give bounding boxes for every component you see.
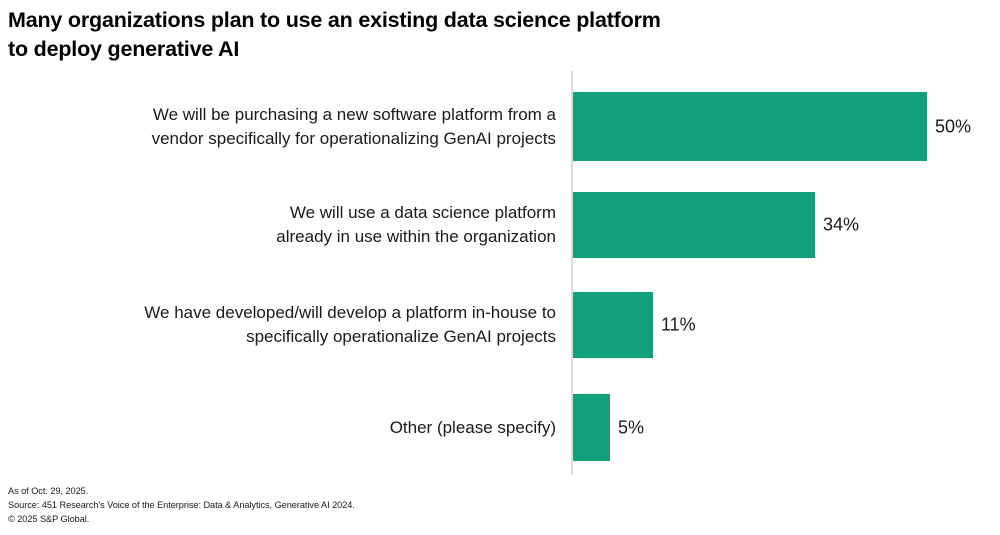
bar-segment[interactable] (573, 394, 610, 461)
category-label: We have developed/will develop a platfor… (0, 301, 556, 349)
bar-row: We will use a data science platform alre… (0, 192, 1000, 258)
footnote-block: As of Oct. 29, 2025. Source: 451 Researc… (8, 485, 355, 527)
bar-value-label: 5% (618, 417, 644, 438)
chart-plot-area: We will be purchasing a new software pla… (0, 68, 1000, 478)
bar-row: We will be purchasing a new software pla… (0, 92, 1000, 161)
bar-value-label: 34% (823, 215, 859, 236)
bar-row: Other (please specify) 5% (0, 394, 1000, 461)
bar-segment[interactable] (573, 292, 653, 358)
category-label: We will use a data science platform alre… (0, 201, 556, 249)
footnote-copyright: © 2025 S&P Global. (8, 513, 355, 527)
footnote-as-of: As of Oct. 29, 2025. (8, 485, 355, 499)
category-label: We will be purchasing a new software pla… (0, 102, 556, 150)
bar-segment[interactable] (573, 92, 927, 161)
bar-value-label: 50% (935, 116, 971, 137)
page-title: Many organizations plan to use an existi… (8, 6, 868, 63)
bar-segment[interactable] (573, 192, 815, 258)
bar-value-label: 11% (661, 315, 696, 336)
bar-row: We have developed/will develop a platfor… (0, 292, 1000, 358)
category-label: Other (please specify) (0, 415, 556, 439)
footnote-source: Source: 451 Research's Voice of the Ente… (8, 499, 355, 513)
